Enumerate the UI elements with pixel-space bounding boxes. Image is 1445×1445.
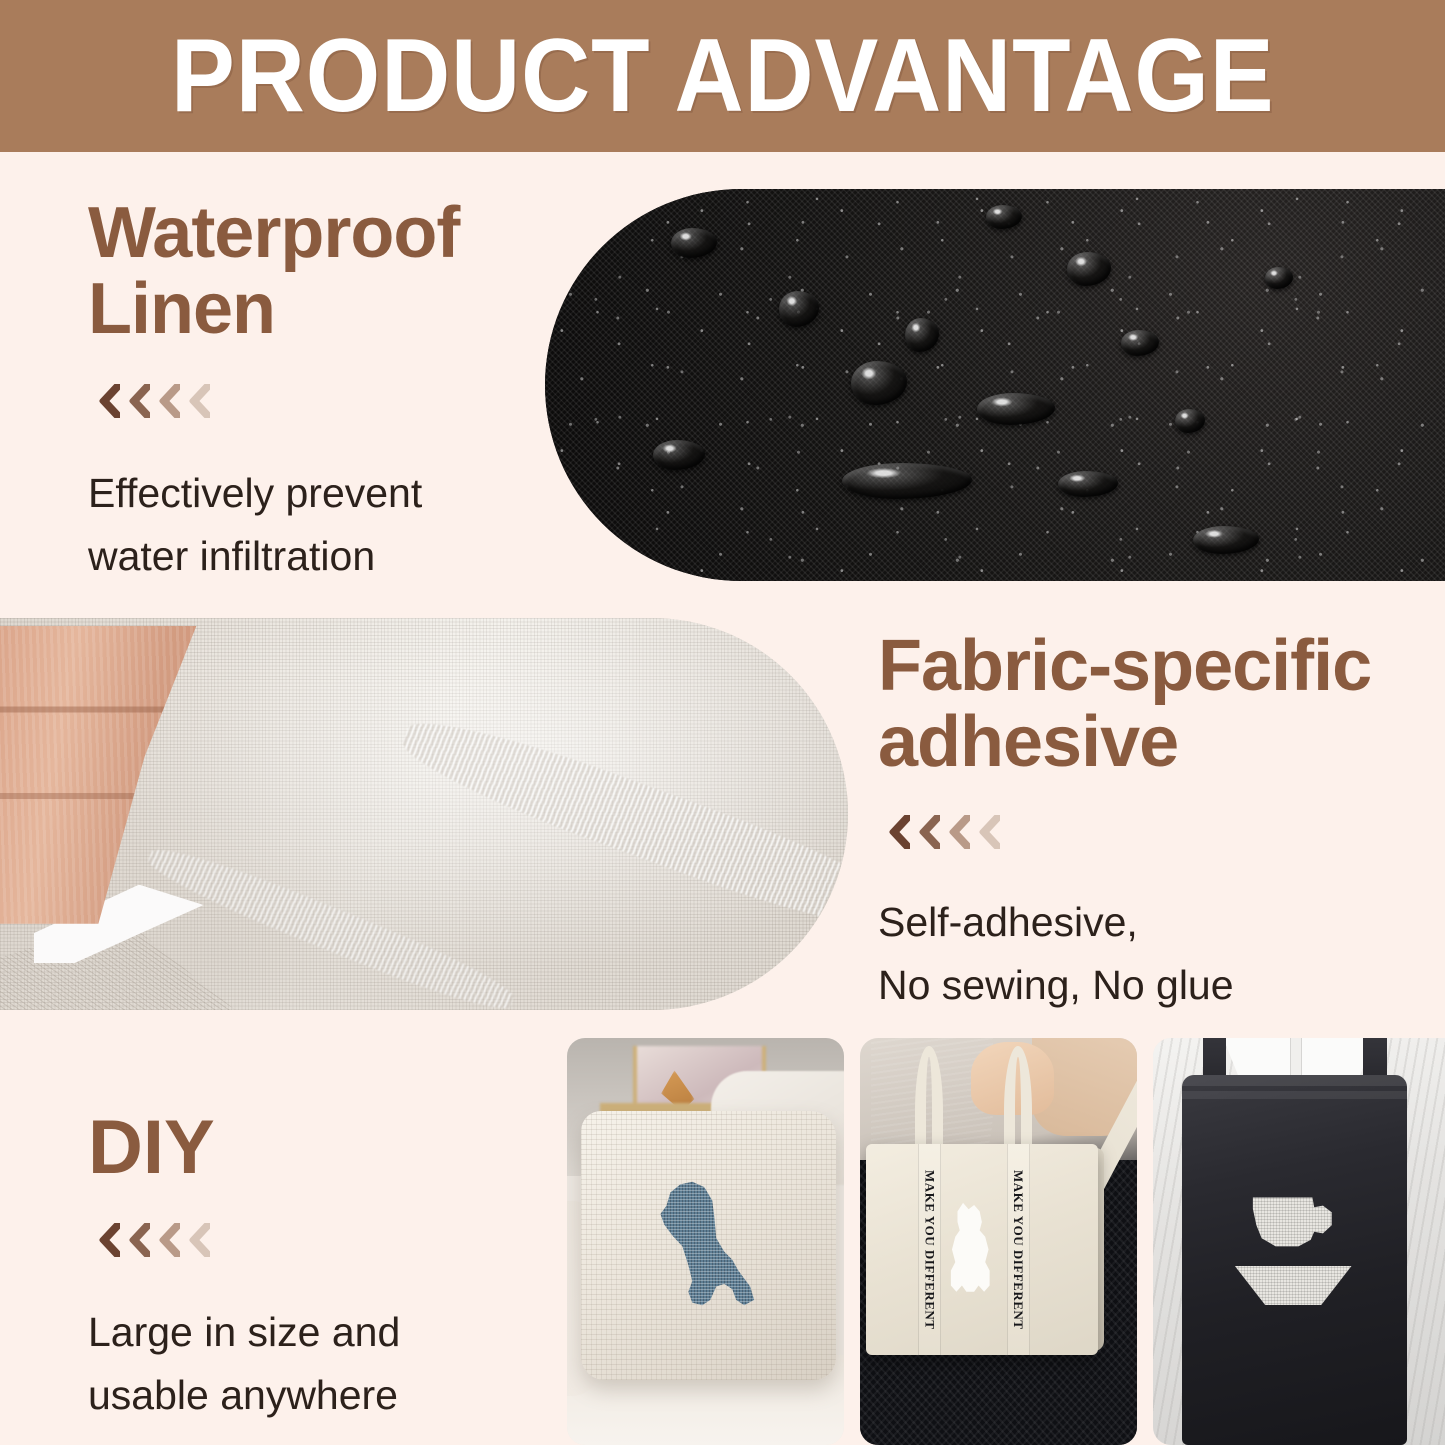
chevron-left-icon (944, 815, 970, 849)
body-line-1: Large in size and (88, 1301, 548, 1365)
chevron-left-icon (124, 384, 150, 418)
diy-application-gallery: MAKE YOU DIFFERENT MAKE YOU DIFFERENT (567, 1038, 1445, 1445)
heading-line-2: Linen (88, 271, 558, 347)
body-line-1: Self-adhesive, (878, 891, 1418, 955)
chevron-left-icon (914, 815, 940, 849)
infographic-page: PRODUCT ADVANTAGE Waterproof Linen Effec… (0, 0, 1445, 1445)
tote-strap-text: MAKE YOU DIFFERENT (922, 1170, 938, 1329)
tote-strap-tape-left: MAKE YOU DIFFERENT (918, 1144, 941, 1356)
chevron-divider (884, 815, 1418, 849)
chevron-left-icon (154, 1223, 180, 1257)
heading-line-1: Fabric-specific (878, 628, 1418, 704)
waterproof-fabric-photo (545, 189, 1445, 581)
apron-bib-hem (1182, 1091, 1407, 1099)
chevron-divider (94, 384, 558, 418)
heading-line-2: adhesive (878, 704, 1418, 780)
chevron-left-icon (154, 384, 180, 418)
gallery-item-tote-bag: MAKE YOU DIFFERENT MAKE YOU DIFFERENT (860, 1038, 1137, 1445)
chevron-divider (94, 1223, 548, 1257)
section-adhesive-body: Self-adhesive, No sewing, No glue (878, 891, 1418, 1018)
page-title: PRODUCT ADVANTAGE (171, 24, 1275, 128)
chevron-left-icon (184, 1223, 210, 1257)
header-banner: PRODUCT ADVANTAGE (0, 0, 1445, 152)
tote-strap-text: MAKE YOU DIFFERENT (1010, 1170, 1026, 1329)
body-line-2: usable anywhere (88, 1364, 548, 1428)
chevron-left-icon (184, 384, 210, 418)
chevron-left-icon (124, 1223, 150, 1257)
body-line-2: No sewing, No glue (878, 954, 1418, 1018)
chevron-left-icon (94, 1223, 120, 1257)
section-diy-heading: DIY (88, 1108, 548, 1189)
section-adhesive-text: Fabric-specific adhesive Self-adhesive, … (878, 628, 1418, 1018)
body-line-2: water infiltration (88, 525, 558, 589)
gallery-item-apron (1153, 1038, 1445, 1445)
chevron-left-icon (884, 815, 910, 849)
section-diy-body: Large in size and usable anywhere (88, 1301, 548, 1428)
chevron-left-icon (974, 815, 1000, 849)
gallery-item-pillow (567, 1038, 844, 1445)
body-line-1: Effectively prevent (88, 462, 558, 526)
section-waterproof-text: Waterproof Linen Effectively prevent wat… (88, 195, 558, 589)
chevron-left-icon (94, 384, 120, 418)
heading-line-1: Waterproof (88, 195, 558, 271)
section-waterproof-body: Effectively prevent water infiltration (88, 462, 558, 589)
section-waterproof-heading: Waterproof Linen (88, 195, 558, 348)
linen-fabric-photo (0, 618, 848, 1010)
apron-fabric-folds (1182, 1075, 1407, 1445)
section-diy-text: DIY Large in size and usable anywhere (88, 1108, 548, 1428)
tote-strap-tape-right: MAKE YOU DIFFERENT (1007, 1144, 1030, 1356)
section-adhesive-heading: Fabric-specific adhesive (878, 628, 1418, 781)
